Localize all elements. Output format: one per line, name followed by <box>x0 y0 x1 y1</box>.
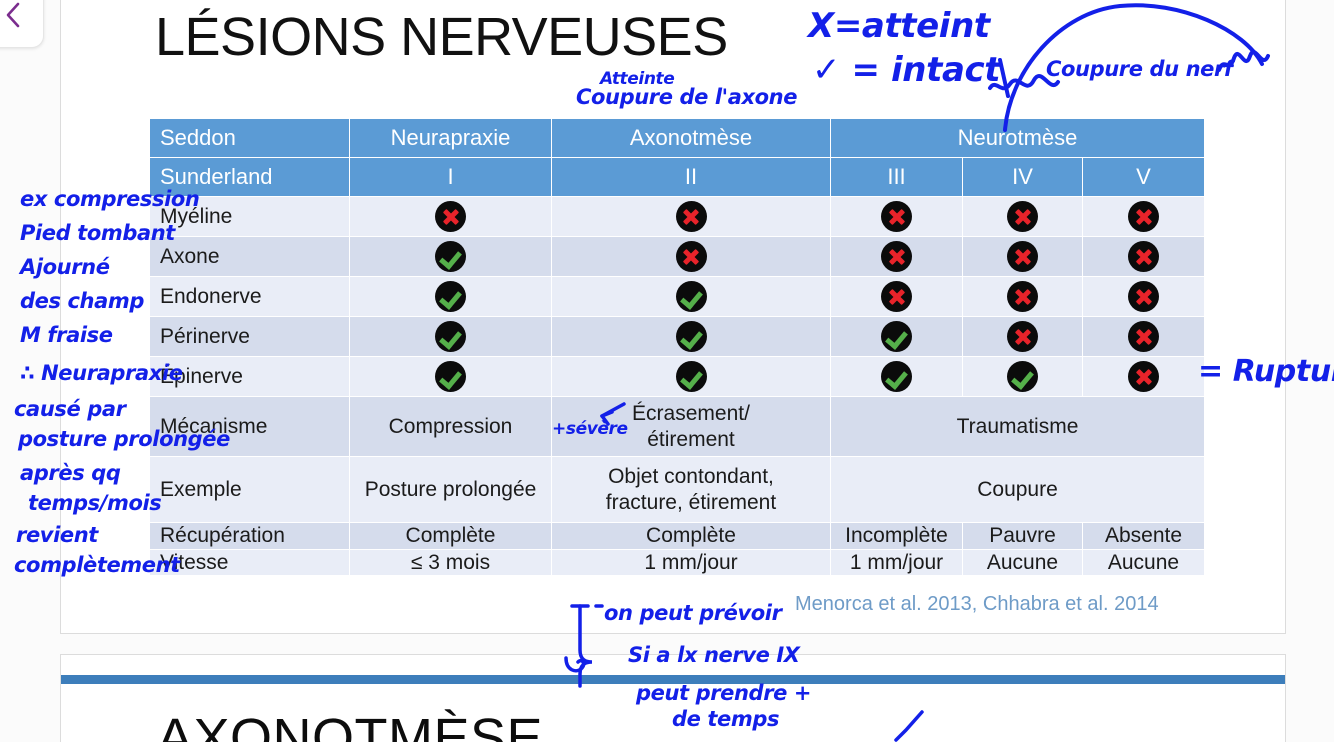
ink-bottom-4: de temps <box>672 708 779 731</box>
ink-left-4: des champ <box>20 290 144 313</box>
ink-bottom-2: Si a lx nerve IX <box>628 644 800 667</box>
ink-stray-check <box>0 0 1334 742</box>
ink-coupure-nerf: Coupure du nerf <box>1046 58 1233 81</box>
chevron-left-icon <box>3 0 23 35</box>
ink-left-5: M fraise <box>20 324 113 347</box>
ink-left-9: après qq <box>20 462 120 485</box>
ink-left-2: Pied tombant <box>20 222 175 245</box>
ink-bottom-1: on peut prévoir <box>604 602 782 625</box>
ink-left-7: causé par <box>14 398 126 421</box>
presentation-viewer: LÉSIONS NERVEUSES Seddon Neurapraxie Axo… <box>0 0 1334 742</box>
ink-left-1: ex compression <box>20 188 199 211</box>
ink-rupture: = Rupture <box>1198 356 1334 388</box>
ink-left-3: Ajourné <box>20 256 110 279</box>
ink-left-12: complètement <box>14 554 180 577</box>
ink-left-8: posture prolongée <box>18 428 230 451</box>
ink-coupure-axone: Coupure de l'axone <box>576 86 797 109</box>
ink-left-6: ∴ Neurapraxie <box>20 362 183 385</box>
ink-legend-check: ✓ = intact <box>812 52 1000 89</box>
ink-legend-x: X=atteint <box>808 8 990 45</box>
ink-plus-severe: +sévère <box>552 420 628 438</box>
ink-bottom-3: peut prendre + <box>636 682 811 705</box>
ink-left-10: temps/mois <box>28 492 161 515</box>
back-button[interactable] <box>0 0 44 48</box>
ink-left-11: revient <box>16 524 98 547</box>
